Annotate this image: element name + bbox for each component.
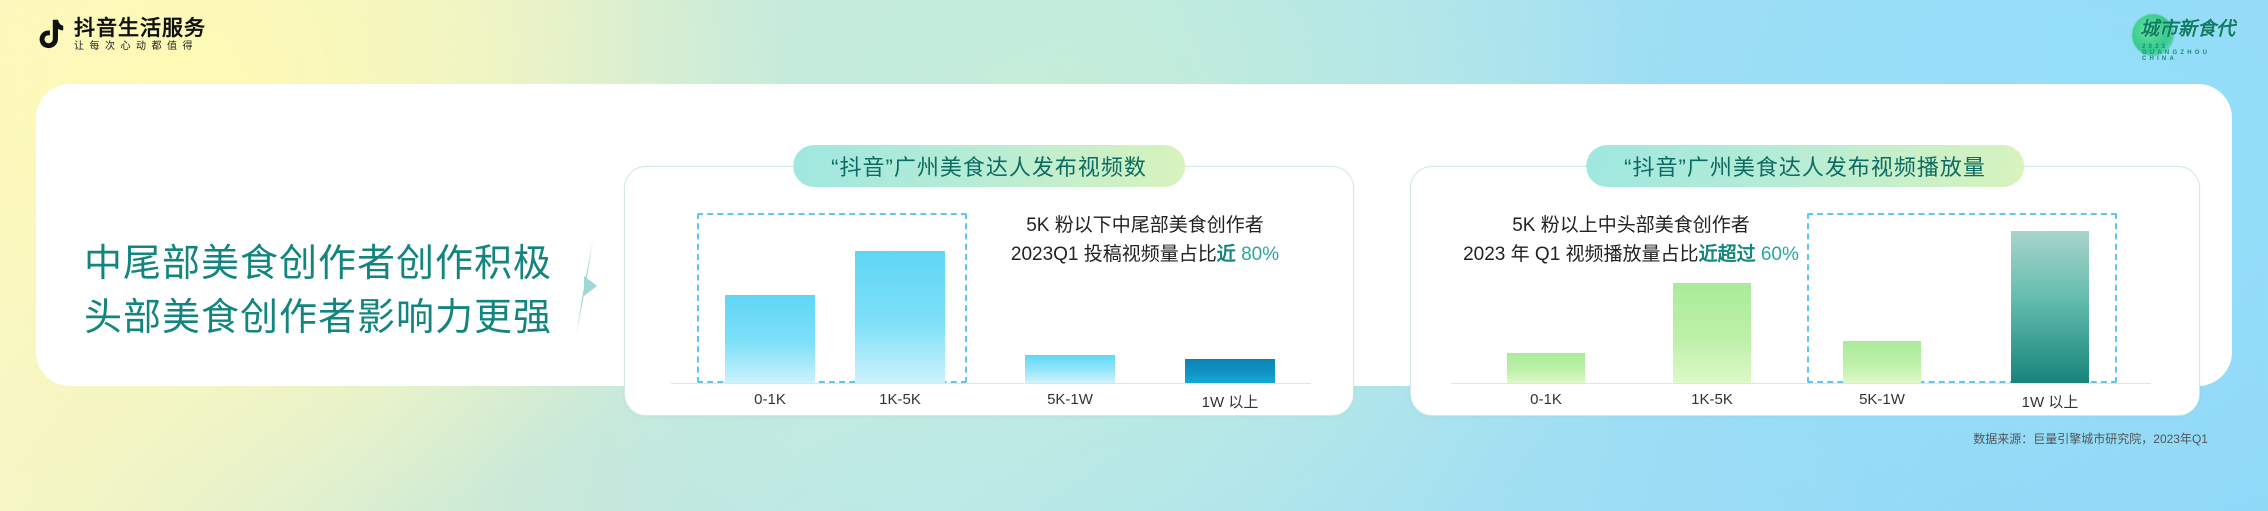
panel-2-bar-1: [1673, 283, 1751, 383]
logo-left-main-text: 抖音生活服务: [74, 18, 206, 39]
panel-1-bar-2: [1025, 355, 1115, 383]
tiktok-note-icon: [36, 19, 64, 51]
douyin-life-service-logo: 抖音生活服务 让每次心动都值得: [36, 18, 206, 52]
panel-2-bar-2: [1843, 341, 1921, 383]
chart-panel-video-plays: “抖音”广州美食达人发布视频播放量 5K 粉以上中头部美食创作者 2023 年 …: [1410, 166, 2200, 416]
panel-1-bar-0: [725, 295, 815, 383]
panel-2-axis-line: [1451, 383, 2151, 384]
panel-1-bar-3: [1185, 359, 1275, 383]
panel-1-xlabel-0: 0-1K: [725, 391, 815, 408]
panel-2-xlabel-2: 5K-1W: [1843, 391, 1921, 408]
logo-right-sub-text: 2023 GUANGZHOU CHINA: [2142, 44, 2238, 62]
city-new-food-era-logo: 城市新食代 2023 GUANGZHOU CHINA: [2128, 16, 2238, 60]
chart-panel-video-count: “抖音”广州美食达人发布视频数 5K 粉以下中尾部美食创作者 2023Q1 投稿…: [624, 166, 1354, 416]
logo-right-main-text: 城市新食代: [2140, 20, 2235, 39]
page-headline: 中尾部美食创作者创作积极 头部美食创作者影响力更强: [84, 238, 552, 346]
panel-2-xlabel-3: 1W 以上: [2011, 391, 2089, 412]
panel-1-plot: 0-1K 1K-5K 5K-1W 1W 以上: [625, 167, 1353, 415]
panel-2-xlabel-0: 0-1K: [1507, 391, 1585, 408]
panel-2-bar-0: [1507, 353, 1585, 383]
panel-2-plot: 0-1K 1K-5K 5K-1W 1W 以上: [1411, 167, 2199, 415]
panel-2-xlabel-1: 1K-5K: [1673, 391, 1751, 408]
panel-1-xlabel-3: 1W 以上: [1185, 391, 1275, 412]
headline-line-2: 头部美食创作者影响力更强: [84, 292, 552, 346]
headline-line-1: 中尾部美食创作者创作积极: [84, 238, 552, 292]
data-source-note: 数据来源：巨量引擎城市研究院，2023年Q1: [1973, 430, 2208, 447]
panel-1-axis-line: [671, 383, 1311, 384]
panel-2-bar-3: [2011, 231, 2089, 383]
panel-1-xlabel-2: 5K-1W: [1025, 391, 1115, 408]
panel-1-bar-1: [855, 251, 945, 383]
logo-left-sub-text: 让每次心动都值得: [74, 42, 206, 52]
chevron-right-icon: [572, 262, 598, 310]
panel-1-xlabel-1: 1K-5K: [855, 391, 945, 408]
